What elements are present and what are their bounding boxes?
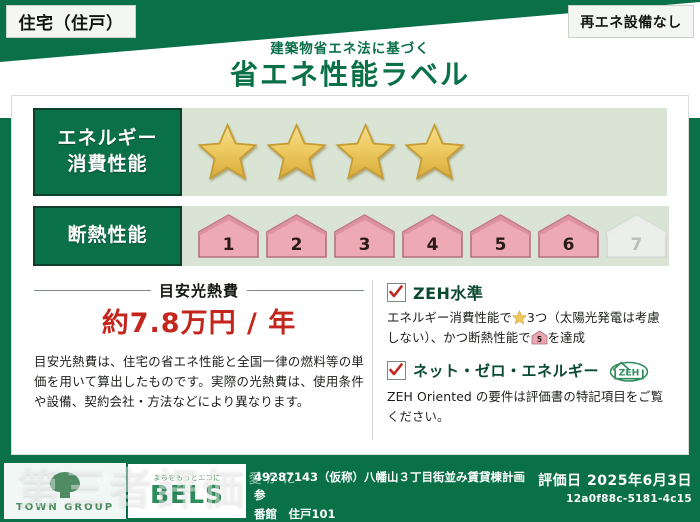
bels-wordmark: BELS (150, 482, 224, 507)
house-number: 3 (332, 235, 397, 255)
house-rating-strip: 1234567 (196, 213, 669, 259)
zeh-standard-block: ZEH水準 エネルギー消費性能で3つ（太陽光発電は考慮しない）、かつ断熱性能で5… (387, 280, 668, 348)
net-zero-energy-body: ZEH Oriented の要件は評価書の特記項目をご覧ください。 (387, 387, 668, 427)
label-card: エネルギー 消費性能 断熱性能 1234567 目安光熱費 約7.8万円 (12, 96, 688, 454)
title-main: 省エネ性能ラベル (0, 58, 700, 92)
net-zero-energy-head: ネット・ゼロ・エネルギー ZEH (387, 359, 668, 383)
house-number: 5 (468, 235, 533, 255)
house-filled-icon: 4 (400, 213, 465, 259)
evaluation-date: 評価日 2025年6月3日 (538, 470, 692, 490)
star-filled-icon (403, 122, 466, 182)
insulation-label-line1: 断熱性能 (67, 223, 147, 249)
energy-performance-label: 住宅（住戸） 再エネ設備なし 建築物省エネ法に基づく 省エネ性能ラベル エネルギ… (0, 0, 700, 522)
title-subtitle: 建築物省エネ法に基づく (0, 42, 700, 57)
house-filled-icon: 2 (264, 213, 329, 259)
house-number: 6 (536, 235, 601, 255)
energy-performance-label-box: エネルギー 消費性能 (33, 108, 182, 196)
house-number: 1 (196, 235, 261, 255)
house-filled-icon: 3 (332, 213, 397, 259)
zeh-logo-icon: ZEH (609, 359, 649, 383)
utility-cost-heading-text: 目安光熱費 (159, 280, 239, 301)
insulation-performance-label-box: 断熱性能 (33, 206, 182, 266)
inline-house-icon: 5 (531, 330, 548, 345)
property-id-line2: 番館 住戸101 (254, 505, 544, 522)
house-filled-icon: 5 (468, 213, 533, 259)
property-identifier: 49287143（仮称）八幡山３丁目街並み賃貸棟計画 参 番館 住戸101 (254, 468, 544, 522)
bels-logo: まちをもっとエコに BELS (128, 464, 246, 518)
zeh-standard-head: ZEH水準 (387, 280, 668, 304)
bottom-bar: まちをもっとエコに BELS 49287143（仮称）八幡山３丁目街並み賃貸棟計… (0, 460, 700, 522)
house-empty-icon: 7 (604, 213, 669, 259)
title-block: 建築物省エネ法に基づく 省エネ性能ラベル (0, 42, 700, 91)
lower-section: 目安光熱費 約7.8万円 / 年 目安光熱費は、住宅の省エネ性能と全国一律の燃料… (34, 278, 668, 444)
zeh-body-part1: エネルギー消費性能で (387, 310, 512, 325)
utility-cost-column: 目安光熱費 約7.8万円 / 年 目安光熱費は、住宅の省エネ性能と全国一律の燃料… (34, 278, 364, 444)
utility-cost-amount: 約7.8万円 / 年 (34, 309, 364, 339)
rule-right (247, 290, 364, 291)
evaluation-uid: 12a0f88c-5181-4c15 (538, 493, 692, 505)
star-filled-icon (265, 122, 328, 182)
rule-left (34, 290, 151, 291)
inline-star-icon (512, 310, 527, 325)
renewable-equipment-tag: 再エネ設備なし (568, 5, 694, 38)
net-zero-energy-title: ネット・ゼロ・エネルギー (413, 360, 599, 381)
house-number: 7 (604, 235, 669, 255)
star-filled-icon (334, 122, 397, 182)
house-rating-area: 1234567 (182, 206, 669, 266)
evaluation-info: 評価日 2025年6月3日 12a0f88c-5181-4c15 (538, 470, 692, 505)
insulation-performance-row: 断熱性能 1234567 (33, 206, 667, 266)
energy-label-line2: 消費性能 (67, 152, 147, 178)
house-number: 4 (400, 235, 465, 255)
zeh-standard-body: エネルギー消費性能で3つ（太陽光発電は考慮しない）、かつ断熱性能で5を達成 (387, 308, 668, 348)
building-type-tag: 住宅（住戸） (6, 5, 136, 38)
energy-label-line1: エネルギー (57, 126, 157, 152)
star-filled-icon (196, 122, 259, 182)
utility-cost-heading: 目安光熱費 (34, 280, 364, 301)
house-filled-icon: 1 (196, 213, 261, 259)
checkbox-checked-icon[interactable] (387, 361, 406, 380)
net-zero-energy-block: ネット・ゼロ・エネルギー ZEH ZEH Oriented の要件は評価書の特 (387, 359, 668, 427)
house-filled-icon: 6 (536, 213, 601, 259)
energy-performance-row: エネルギー 消費性能 (33, 108, 667, 196)
zeh-body-part2: を達成 (548, 330, 585, 345)
utility-cost-note: 目安光熱費は、住宅の省エネ性能と全国一律の燃料等の単価を用いて算出したものです。… (34, 352, 364, 412)
house-number: 2 (264, 235, 329, 255)
svg-text:ZEH: ZEH (619, 367, 640, 378)
svg-text:5: 5 (537, 335, 542, 344)
property-id-line1: 49287143（仮称）八幡山３丁目街並み賃貸棟計画 参 (254, 468, 544, 505)
column-divider (372, 280, 373, 440)
star-rating-strip (182, 108, 667, 196)
checkbox-checked-icon[interactable] (387, 283, 406, 302)
certification-column: ZEH水準 エネルギー消費性能で3つ（太陽光発電は考慮しない）、かつ断熱性能で5… (387, 278, 668, 444)
zeh-standard-title: ZEH水準 (413, 280, 483, 304)
